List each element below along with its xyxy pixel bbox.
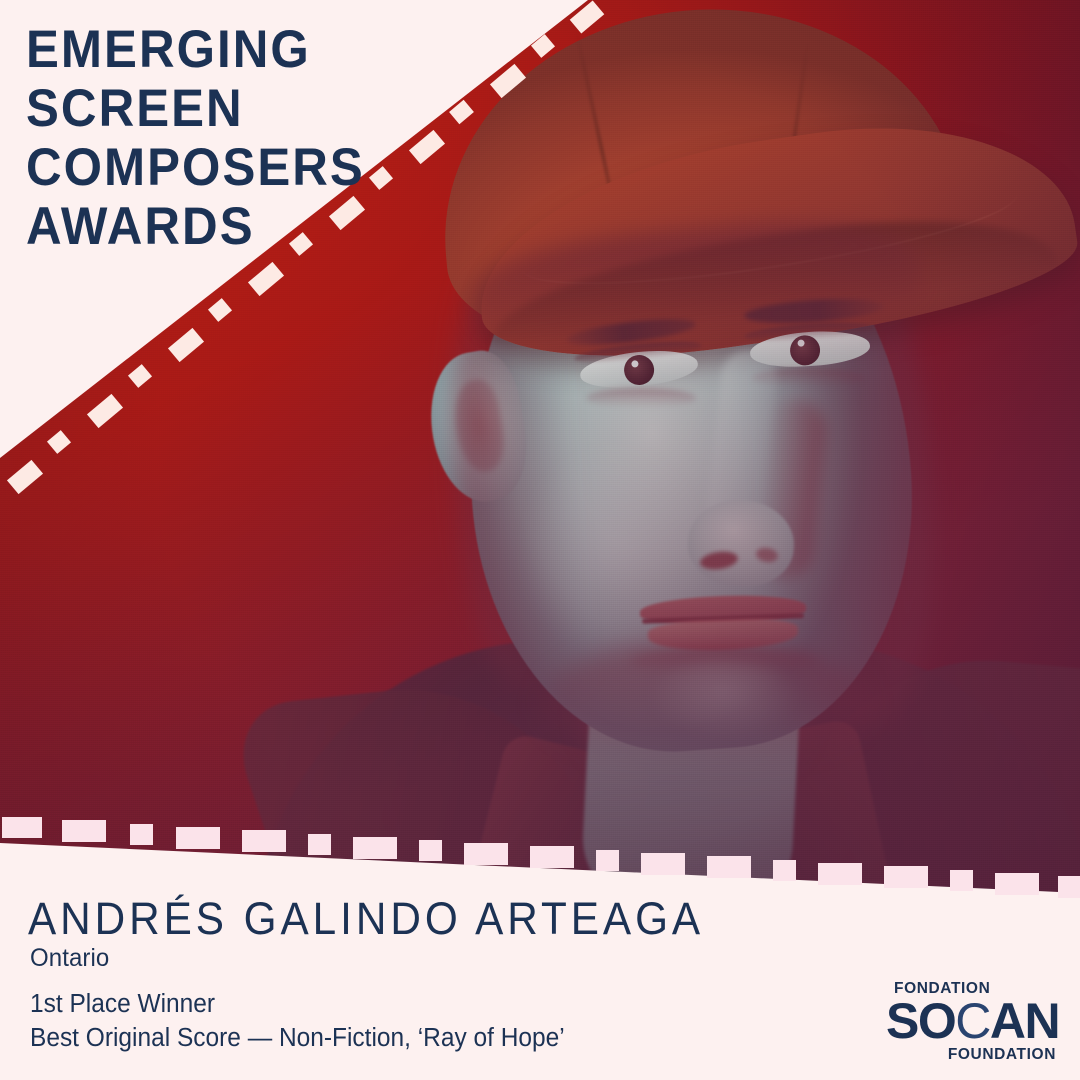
film-perforation (62, 820, 106, 842)
logo-socan-wordmark: SOCAN (886, 994, 1059, 1048)
winner-region: Ontario (30, 944, 109, 973)
logo-foundation-text: FOUNDATION (948, 1046, 1056, 1064)
film-perforation (419, 840, 442, 861)
film-perforation (818, 863, 862, 885)
film-perforation (995, 873, 1039, 895)
page-title: EMERGING SCREEN COMPOSERS AWARDS (26, 20, 365, 256)
film-perforation (641, 853, 685, 875)
winner-name: ANDRÉS GALINDO ARTEAGA (28, 893, 704, 945)
film-perforation (530, 846, 574, 868)
logo-socan-so: SO (886, 993, 955, 1049)
film-perforation (773, 860, 796, 881)
film-perforation (596, 850, 619, 871)
logo-socan-an: AN (990, 993, 1059, 1049)
film-perforation (884, 866, 928, 888)
winner-award: 1st Place Winner Best Original Score — N… (30, 987, 565, 1055)
socan-foundation-logo: FONDATION SOCAN FOUNDATION (876, 980, 1058, 1066)
film-perforation (353, 837, 397, 859)
film-perforation (707, 856, 751, 878)
film-perforation (464, 843, 508, 865)
award-poster: EMERGING SCREEN COMPOSERS AWARDS ANDRÉS … (0, 0, 1080, 1080)
film-perforation (176, 827, 220, 849)
film-perforation (242, 830, 286, 852)
film-perforation (950, 870, 973, 891)
film-perforation (130, 824, 153, 845)
film-perforation (1058, 876, 1080, 898)
logo-socan-c: C (955, 993, 990, 1049)
film-perforation (2, 817, 42, 838)
film-perforation (308, 834, 331, 855)
